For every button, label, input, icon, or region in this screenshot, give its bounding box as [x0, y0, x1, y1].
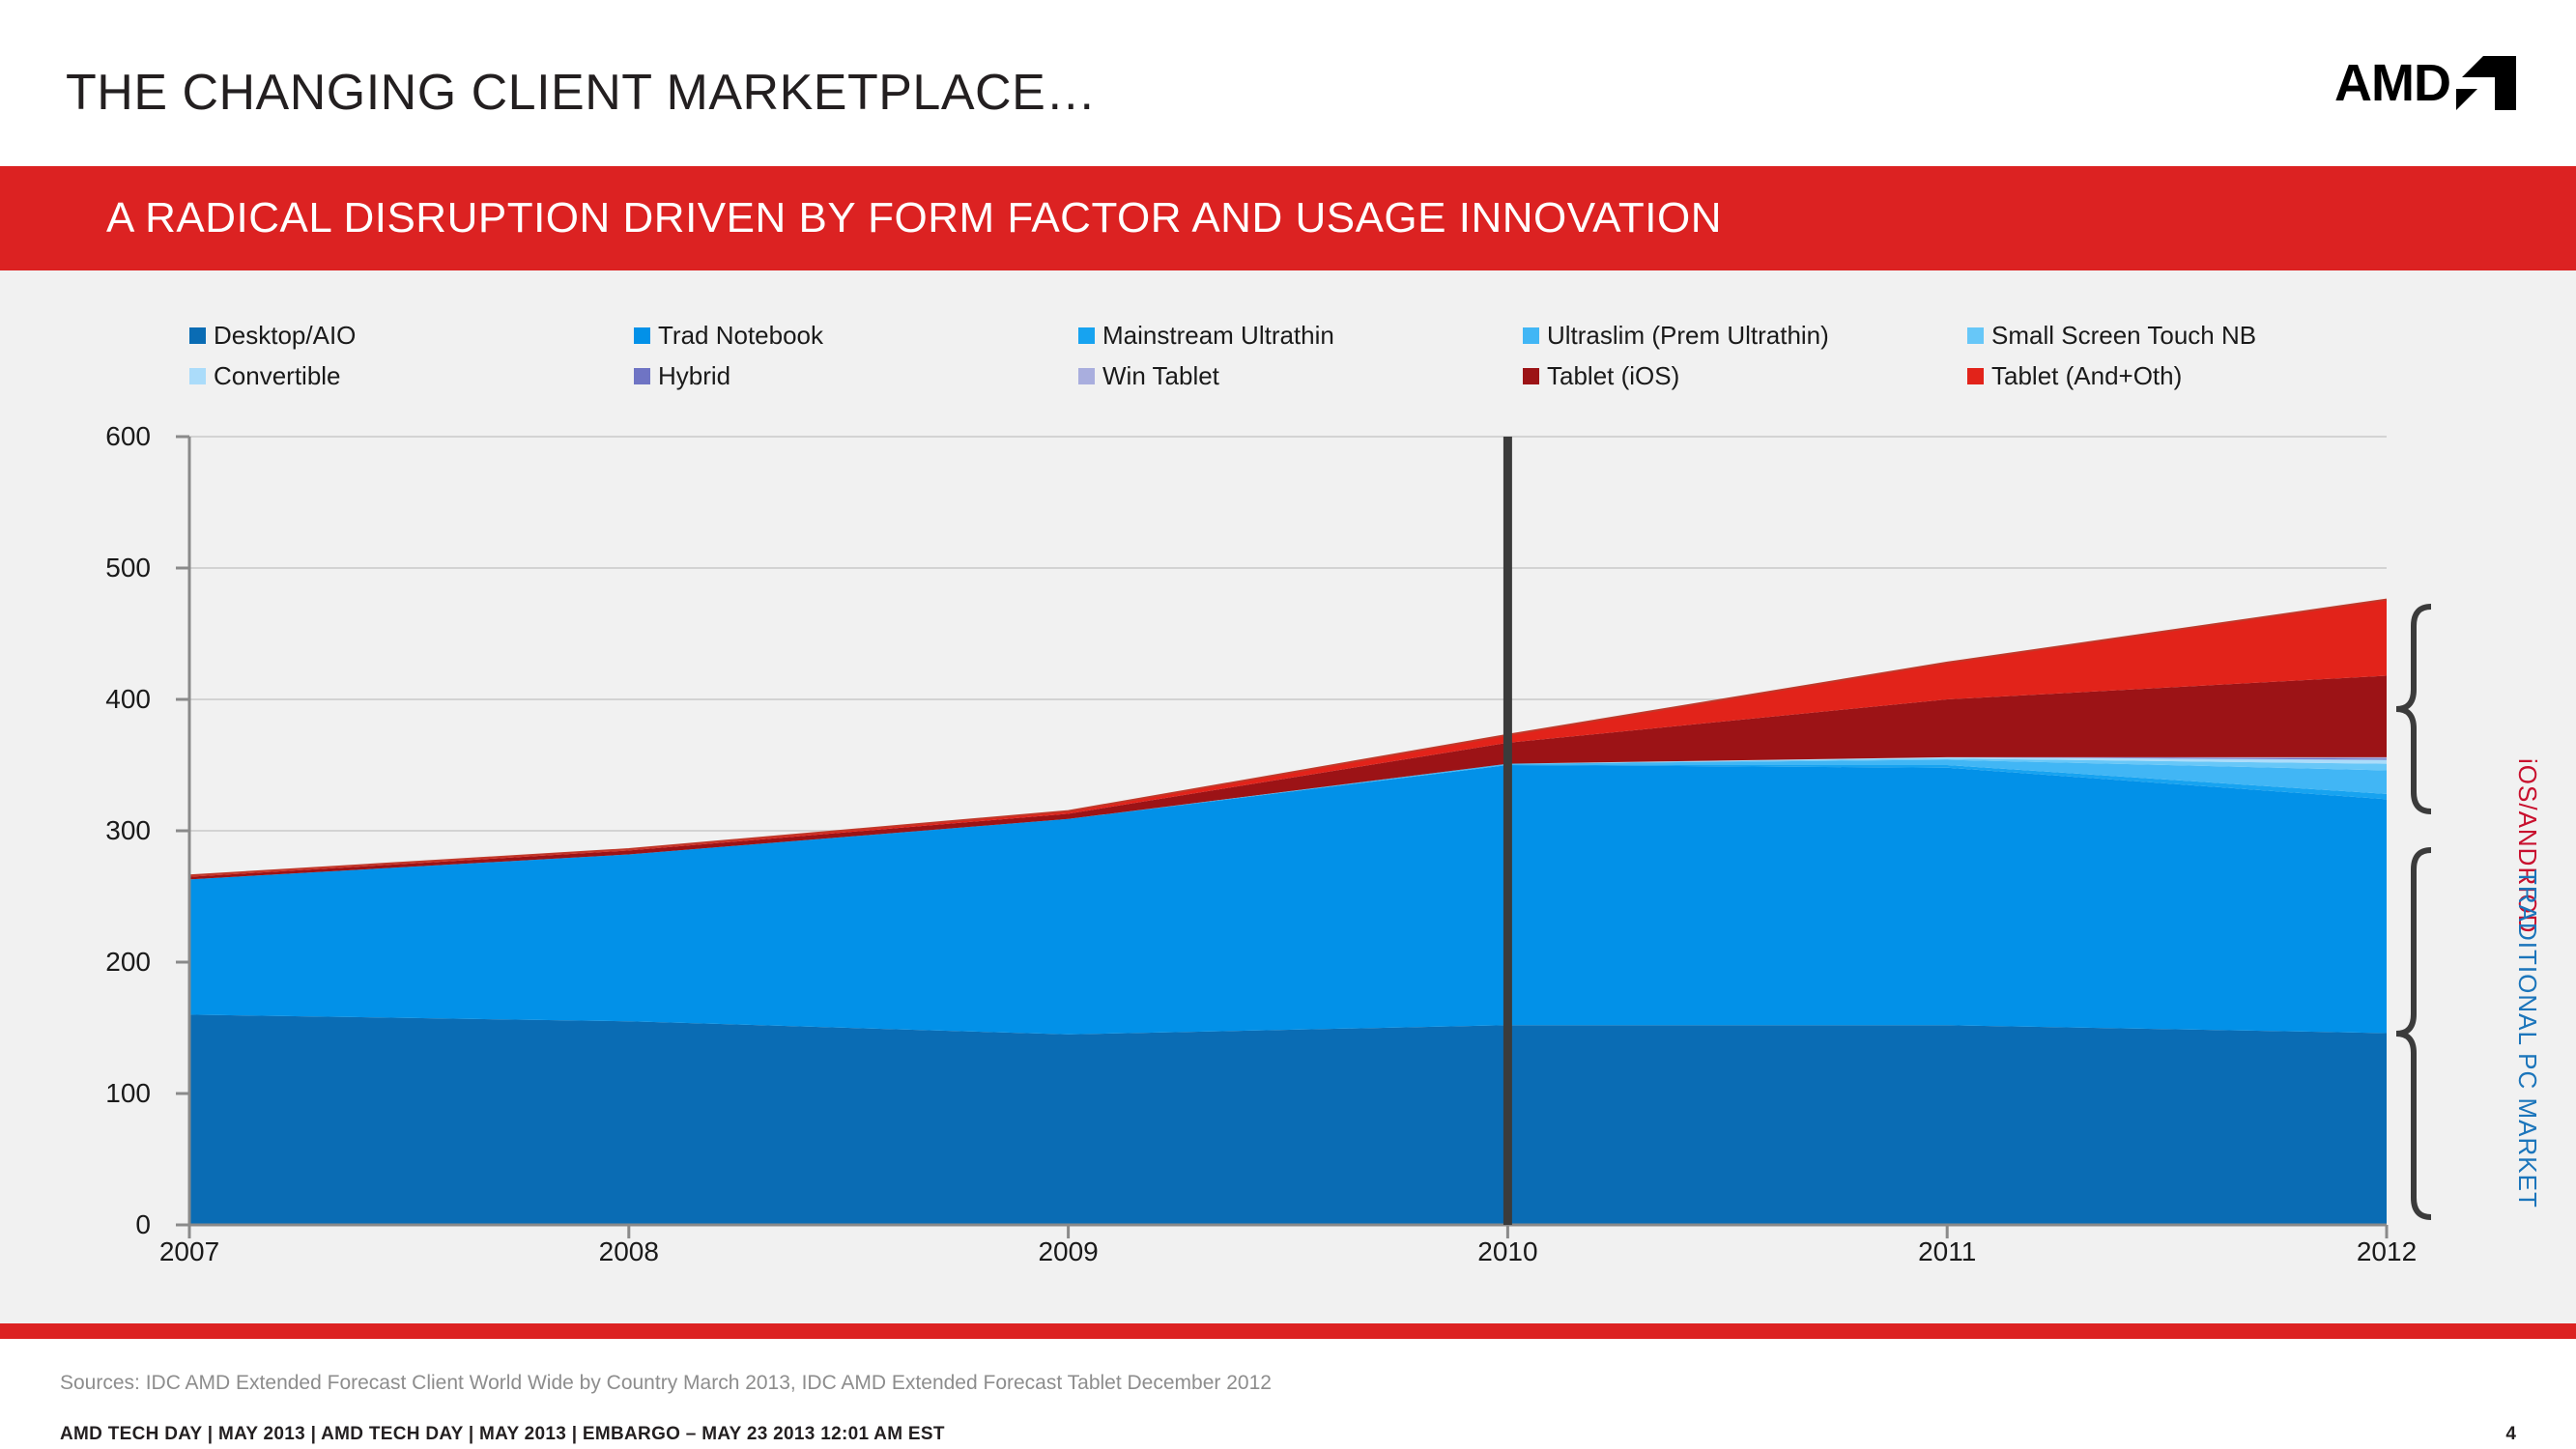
chart-region: Desktop/AIOTrad NotebookMainstream Ultra… — [0, 270, 2576, 1323]
legend-item[interactable]: Trad Notebook — [634, 315, 1078, 355]
amd-arrow-icon — [2456, 56, 2516, 110]
legend-item-label: Trad Notebook — [658, 321, 823, 351]
legend-item[interactable]: Mainstream Ultrathin — [1078, 315, 1523, 355]
legend-item-label: Mainstream Ultrathin — [1102, 321, 1334, 351]
legend-item-label: Ultraslim (Prem Ultrathin) — [1547, 321, 1829, 351]
legend-item-label: Hybrid — [658, 361, 730, 391]
legend-item-label: Convertible — [214, 361, 341, 391]
legend-item[interactable]: Small Screen Touch NB — [1967, 315, 2412, 355]
legend-item[interactable]: Ultraslim (Prem Ultrathin) — [1523, 315, 1967, 355]
stacked-area-plot — [0, 415, 2576, 1285]
amd-wordmark: AMD — [2334, 57, 2450, 109]
legend-item-label: Small Screen Touch NB — [1991, 321, 2256, 351]
sources-text: Sources: IDC AMD Extended Forecast Clien… — [60, 1372, 1272, 1395]
chart-legend: Desktop/AIOTrad NotebookMainstream Ultra… — [189, 315, 2412, 396]
legend-swatch-icon — [189, 327, 206, 344]
legend-swatch-icon — [1523, 327, 1539, 344]
area-series-desktop-aio — [189, 1014, 2387, 1225]
legend-item[interactable]: Tablet (iOS) — [1523, 355, 1967, 396]
amd-logo: AMD — [2334, 56, 2516, 110]
legend-swatch-icon — [1078, 327, 1095, 344]
bracket-label-traditional-pc: TRADITIONAL PC MARKET — [2512, 869, 2542, 1208]
legend-item-label: Desktop/AIO — [214, 321, 356, 351]
legend-item-label: Win Tablet — [1102, 361, 1219, 391]
section-banner: A RADICAL DISRUPTION DRIVEN BY FORM FACT… — [0, 166, 2576, 270]
legend-swatch-icon — [1523, 368, 1539, 384]
legend-item[interactable]: Win Tablet — [1078, 355, 1523, 396]
legend-item[interactable]: Tablet (And+Oth) — [1967, 355, 2412, 396]
page-title: THE CHANGING CLIENT MARKETPLACE… — [66, 64, 1097, 122]
legend-item-label: Tablet (iOS) — [1547, 361, 1679, 391]
legend-item[interactable]: Desktop/AIO — [189, 315, 634, 355]
legend-swatch-icon — [634, 368, 650, 384]
legend-item-label: Tablet (And+Oth) — [1991, 361, 2182, 391]
legend-swatch-icon — [1967, 368, 1984, 384]
legend-swatch-icon — [1967, 327, 1984, 344]
slide-footer: Sources: IDC AMD Extended Forecast Clien… — [0, 1339, 2576, 1449]
page-number: 4 — [2505, 1424, 2516, 1445]
legend-item[interactable]: Convertible — [189, 355, 634, 396]
banner-text: A RADICAL DISRUPTION DRIVEN BY FORM FACT… — [106, 194, 1722, 242]
legend-swatch-icon — [1078, 368, 1095, 384]
footer-meta-text: AMD TECH DAY | MAY 2013 | AMD TECH DAY |… — [60, 1424, 945, 1445]
slide-header: THE CHANGING CLIENT MARKETPLACE… AMD — [0, 0, 2576, 166]
legend-swatch-icon — [189, 368, 206, 384]
plot-area: 0100200300400500600 20072008200920102011… — [0, 415, 2576, 1323]
legend-item[interactable]: Hybrid — [634, 355, 1078, 396]
legend-swatch-icon — [634, 327, 650, 344]
footer-rule — [0, 1323, 2576, 1339]
area-series-trad-notebook — [189, 765, 2387, 1035]
